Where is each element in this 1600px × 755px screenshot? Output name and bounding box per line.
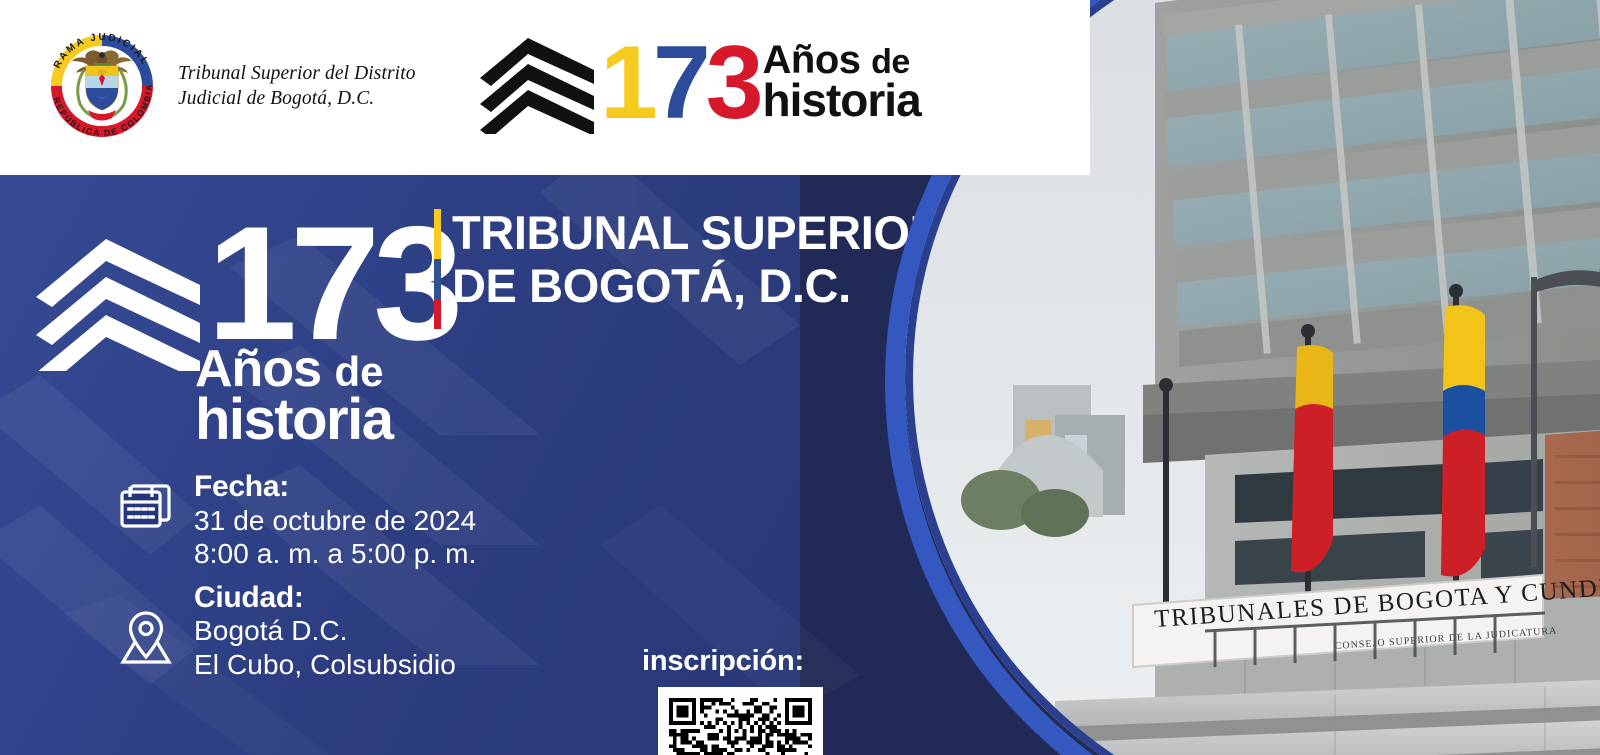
time-value: 8:00 a. m. a 5:00 p. m.: [194, 537, 476, 571]
registration-label: inscripción:: [640, 645, 823, 678]
title-line-2: DE BOGOTÁ, D.C.: [452, 260, 943, 313]
event-banner: TRIBUNALES DE BOGOTA Y CUNDINAMARCA CONS…: [0, 0, 1600, 755]
digit-7: 7: [653, 41, 706, 126]
registration-block: inscripción:: [640, 645, 823, 755]
header-historia: historia: [763, 79, 921, 122]
city-label: Ciudad:: [194, 581, 456, 615]
rama-judicial-colombia-emblem: RAMA JUDICIAL REPÚBLICA DE COLOMBIA: [38, 22, 166, 150]
triple-chevron-icon: [30, 231, 205, 371]
info-row-city: Ciudad: Bogotá D.C. El Cubo, Colsubsidio: [118, 581, 476, 682]
date-value: 31 de octubre de 2024: [194, 504, 476, 538]
divider-yellow: [434, 209, 441, 259]
header-anos-de-historia: Años de historia: [763, 42, 921, 126]
header-anniversary-number: 173: [600, 41, 759, 126]
city-value: Bogotá D.C.: [194, 614, 456, 648]
location-pin-icon: [118, 581, 174, 665]
info-row-date: Fecha: 31 de octubre de 2024 8:00 a. m. …: [118, 470, 476, 571]
venue-value: El Cubo, Colsubsidio: [194, 648, 456, 682]
anniversary-number: 173: [207, 215, 456, 353]
divider-red: [434, 299, 441, 329]
org-name-line-2: Judicial de Bogotá, D.C.: [178, 87, 458, 112]
header-band: RAMA JUDICIAL REPÚBLICA DE COLOMBIA: [0, 0, 1090, 175]
digit-3: 3: [706, 41, 759, 126]
page-title: TRIBUNAL SUPERIOR DE BOGOTÁ, D.C.: [452, 207, 943, 312]
organization-name: Tribunal Superior del Distrito Judicial …: [178, 62, 458, 111]
digit-1: 1: [600, 41, 653, 126]
divider-blue: [434, 259, 441, 299]
triple-chevron-icon: [478, 34, 596, 134]
date-label: Fecha:: [194, 470, 476, 504]
calendar-icon: [118, 470, 174, 530]
title-line-1: TRIBUNAL SUPERIOR: [452, 207, 943, 260]
org-name-line-1: Tribunal Superior del Distrito: [178, 62, 458, 87]
event-info: Fecha: 31 de octubre de 2024 8:00 a. m. …: [118, 470, 476, 682]
anos-de-historia: Años de historia: [195, 345, 393, 447]
tricolor-divider: [434, 209, 441, 329]
header-anniversary-lockup: 173 Años de historia: [478, 24, 921, 144]
qr-code-card[interactable]: [658, 687, 823, 755]
qr-code-icon[interactable]: [669, 698, 812, 755]
historia-text: historia: [195, 393, 393, 447]
